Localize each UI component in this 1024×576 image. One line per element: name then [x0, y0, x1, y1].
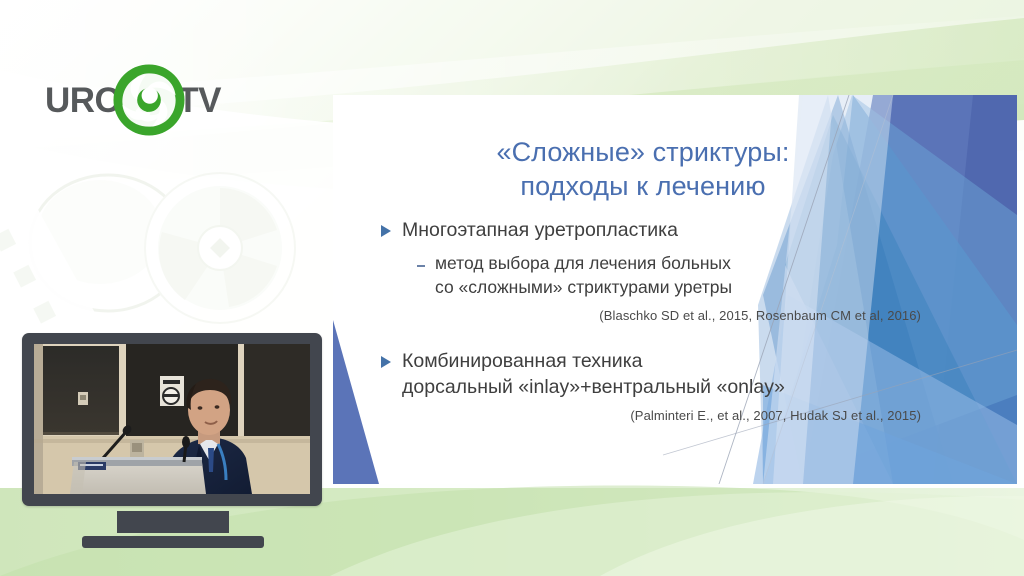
slide-body: Многоэтапная уретропластика метод выбора…	[381, 217, 926, 423]
slide-title-line2: подходы к лечению	[393, 169, 893, 203]
film-reel-watermark	[0, 140, 340, 355]
bullet-2-line2: дорсальный «inlay»+вентральный «onlay»	[402, 376, 785, 398]
citation-2: (Palminteri E., et al., 2007, Hudak SJ e…	[381, 408, 926, 423]
presenter-video-thumbnail	[34, 344, 310, 494]
bullet-item-1: Многоэтапная уретропластика	[381, 217, 926, 243]
video-monitor[interactable]	[22, 333, 322, 558]
sub-bullet-1: метод выбора для лечения больных со «сло…	[417, 252, 926, 300]
dash-bullet-icon	[417, 265, 425, 267]
bullet-2-line1: Комбинированная техника	[402, 350, 643, 372]
citation-1: (Blaschko SD et al., 2015, Rosenbaum CM …	[381, 308, 926, 323]
video-screen[interactable]	[34, 344, 310, 494]
bullet-2-text: Комбинированная техника дорсальный «inla…	[402, 348, 785, 400]
monitor-base	[82, 536, 264, 548]
monitor-neck	[117, 511, 229, 533]
triangle-bullet-icon	[381, 356, 391, 368]
slide-content: «Сложные» стриктуры: подходы к лечению М…	[333, 95, 1017, 484]
presentation-slide: «Сложные» стриктуры: подходы к лечению М…	[333, 95, 1017, 484]
screenshot-stage: URO TV	[0, 0, 1024, 576]
slide-title-line1: «Сложные» стриктуры:	[393, 135, 893, 169]
bullet-spacer	[381, 323, 926, 348]
slide-title: «Сложные» стриктуры: подходы к лечению	[393, 135, 893, 203]
triangle-bullet-icon	[381, 225, 391, 237]
logo-wordmark-left: URO	[45, 83, 121, 118]
monitor-bezel	[22, 333, 322, 506]
urotv-logo: URO TV	[45, 62, 221, 138]
bullet-item-2: Комбинированная техника дорсальный «inla…	[381, 348, 926, 400]
bullet-1-text: Многоэтапная уретропластика	[402, 217, 678, 243]
sub-bullet-1-line2: со «сложными» стриктурами уретры	[435, 277, 732, 297]
sub-bullet-1-line1: метод выбора для лечения больных	[435, 253, 731, 273]
urotv-aperture-leaf-icon	[112, 63, 186, 137]
sub-bullet-1-text: метод выбора для лечения больных со «сло…	[435, 252, 732, 300]
